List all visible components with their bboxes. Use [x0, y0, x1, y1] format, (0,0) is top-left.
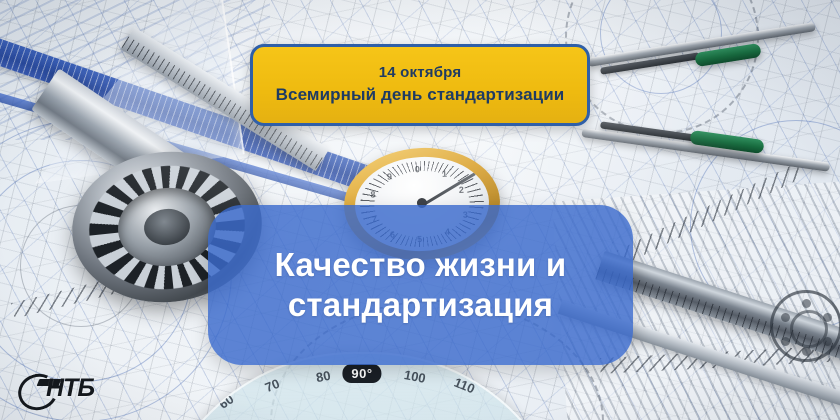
protractor-degree-label: 80: [314, 368, 331, 385]
event-title: Всемирный день стандартизации: [276, 85, 565, 105]
event-date-banner: 14 октября Всемирный день стандартизации: [250, 44, 590, 126]
event-date: 14 октября: [379, 65, 462, 82]
protractor-90-degree-marker: 90°: [342, 364, 381, 383]
headline-text: Качество жизни и стандартизация: [261, 245, 581, 324]
logo-wordmark: НТБ: [46, 374, 94, 403]
standardization-day-banner: 0 1 2 3 4 5 6 7 8 9 60 70: [0, 0, 840, 420]
headline-line-1: Качество жизни и: [275, 245, 567, 285]
ntb-logo[interactable]: НТБ: [16, 372, 120, 408]
headline-panel: Качество жизни и стандартизация: [208, 205, 633, 365]
headline-line-2: стандартизация: [275, 285, 567, 325]
gear-diagram: [770, 290, 840, 362]
